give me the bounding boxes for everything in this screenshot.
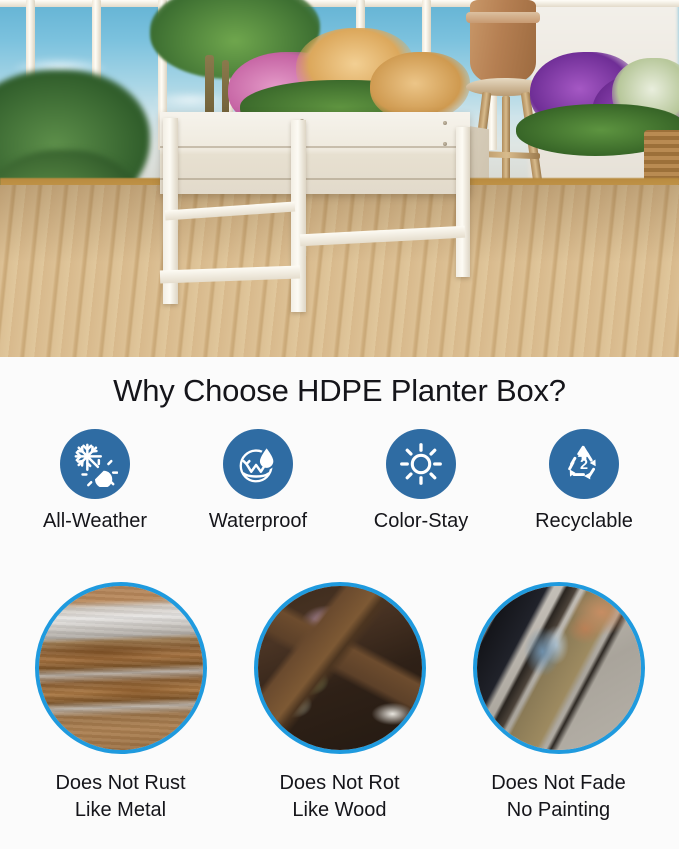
water-droplet-shield-icon xyxy=(235,441,281,487)
features-section: Why Choose HDPE Planter Box? xyxy=(0,357,679,582)
feature-recyclable[interactable]: 2 Recyclable xyxy=(503,429,666,533)
planter-leg xyxy=(456,127,470,277)
hdpe-planter-box xyxy=(160,112,470,194)
hand-painting-deck-photo xyxy=(473,582,645,754)
proof-row: Does Not Rust Like Metal Does Not Rot Li… xyxy=(0,582,679,824)
recyclable-badge: 2 xyxy=(549,429,619,499)
feature-waterproof[interactable]: Waterproof xyxy=(177,429,340,533)
recycle-2-icon: 2 xyxy=(561,441,607,487)
hero-product-photo xyxy=(0,0,679,357)
proof-item-no-fade[interactable]: Does Not Fade No Painting xyxy=(461,582,657,824)
all-weather-badge xyxy=(60,429,130,499)
photo-surface xyxy=(477,586,641,750)
page-title: Why Choose HDPE Planter Box? xyxy=(0,373,679,409)
proof-caption-line1: Does Not Fade xyxy=(491,770,626,797)
proof-section: Does Not Rust Like Metal Does Not Rot Li… xyxy=(0,582,679,849)
proof-caption-line1: Does Not Rust xyxy=(55,770,185,797)
terracotta-pot-rim xyxy=(466,12,540,23)
proof-caption: Does Not Rust Like Metal xyxy=(55,770,185,824)
panel-seam xyxy=(160,178,470,180)
snowflake-sun-icon xyxy=(72,441,118,487)
proof-caption-line2: Like Wood xyxy=(279,797,399,824)
color-stay-badge xyxy=(386,429,456,499)
svg-text:2: 2 xyxy=(580,457,588,473)
product-infographic-page: Why Choose HDPE Planter Box? xyxy=(0,0,679,849)
waterproof-badge xyxy=(223,429,293,499)
proof-caption: Does Not Fade No Painting xyxy=(491,770,626,824)
rusted-metal-pipe-photo xyxy=(35,582,207,754)
panel-seam xyxy=(160,146,470,148)
feature-label: All-Weather xyxy=(43,510,147,533)
photo-surface xyxy=(258,586,422,750)
feature-all-weather[interactable]: All-Weather xyxy=(14,429,177,533)
feature-icon-row: All-Weather xyxy=(0,429,679,533)
photo-surface xyxy=(39,586,203,750)
proof-item-no-rust[interactable]: Does Not Rust Like Metal xyxy=(23,582,219,824)
screw xyxy=(443,121,447,125)
proof-caption: Does Not Rot Like Wood xyxy=(279,770,399,824)
sun-icon xyxy=(399,442,443,486)
planter-leg xyxy=(291,120,306,312)
feature-label: Color-Stay xyxy=(374,510,468,533)
proof-caption-line1: Does Not Rot xyxy=(279,770,399,797)
proof-item-no-rot[interactable]: Does Not Rot Like Wood xyxy=(242,582,438,824)
proof-caption-line2: Like Metal xyxy=(55,797,185,824)
railing-top-rail xyxy=(0,0,679,7)
feature-label: Waterproof xyxy=(209,510,307,533)
feature-color-stay[interactable]: Color-Stay xyxy=(340,429,503,533)
screw xyxy=(443,142,447,146)
proof-caption-line2: No Painting xyxy=(491,797,626,824)
deck-shadow-overlay xyxy=(0,185,679,357)
feature-label: Recyclable xyxy=(535,510,633,533)
rotting-wood-planter-photo xyxy=(254,582,426,754)
